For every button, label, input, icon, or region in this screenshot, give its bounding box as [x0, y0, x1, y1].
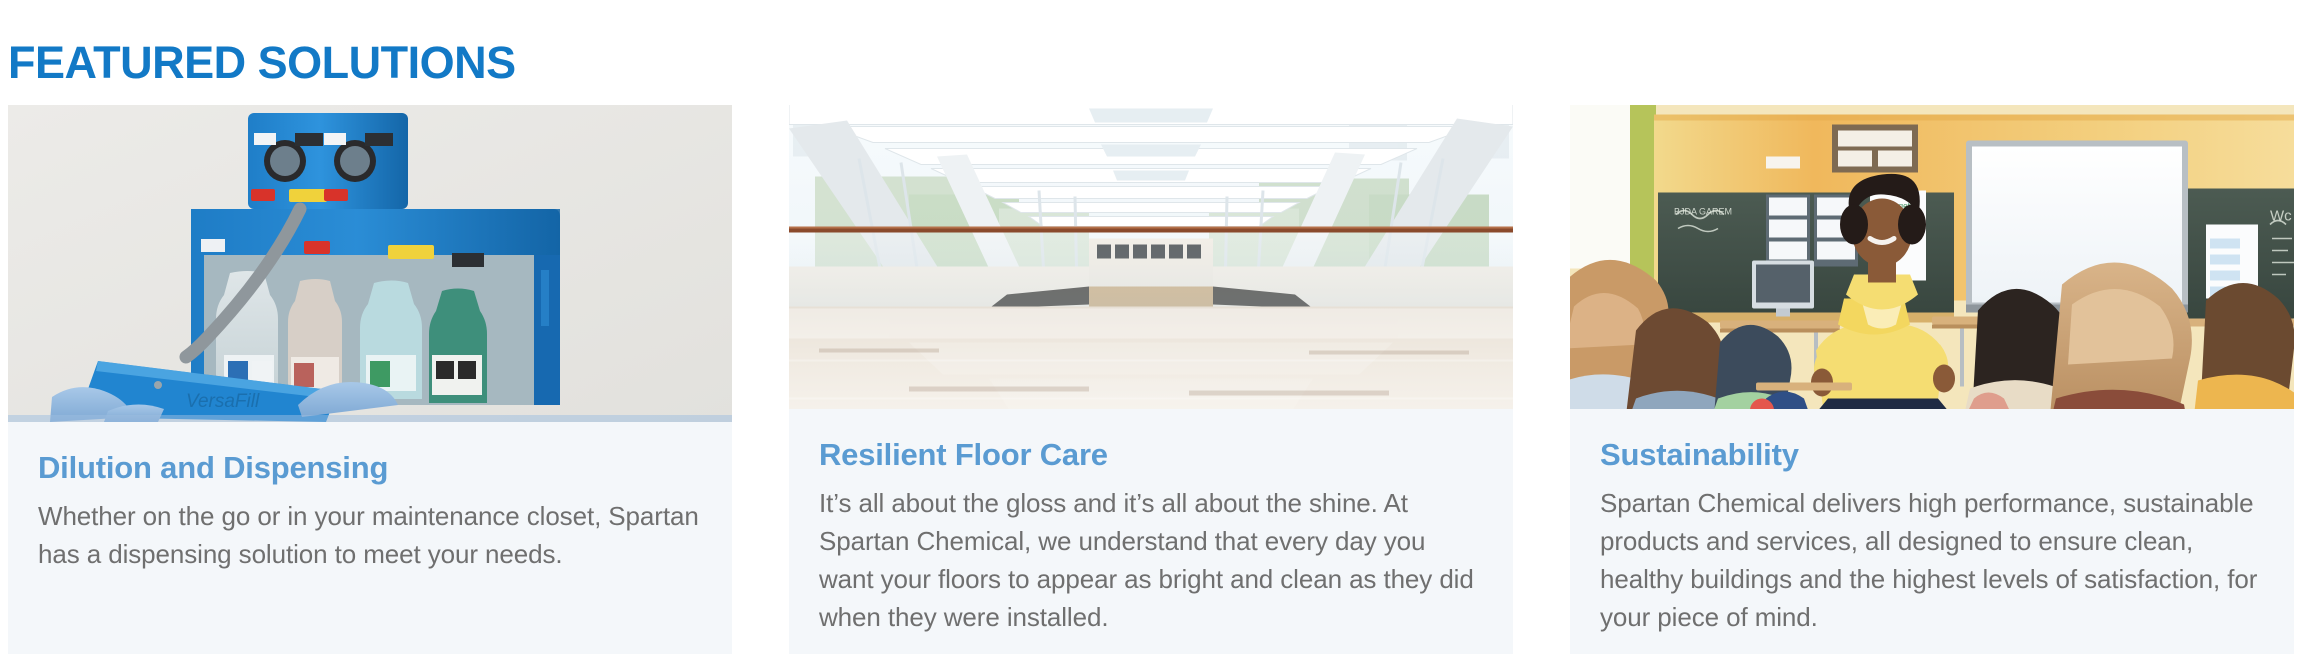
solution-card-body: Resilient Floor Care It’s all about the …	[789, 409, 1513, 654]
solution-card-title[interactable]: Resilient Floor Care	[819, 437, 1483, 473]
sustainability-classroom-photo[interactable]: BJDA GAREM Wc	[1570, 105, 2294, 409]
solution-card-title[interactable]: Dilution and Dispensing	[38, 450, 702, 486]
page-title: FEATURED SOLUTIONS	[8, 35, 516, 91]
svg-text:BJDA GAREM: BJDA GAREM	[1674, 207, 1732, 217]
solution-card-body: Dilution and Dispensing Whether on the g…	[8, 422, 732, 654]
featured-solutions-section: FEATURED SOLUTIONS	[0, 0, 2302, 654]
solution-card-description: It’s all about the gloss and it’s all ab…	[819, 484, 1483, 636]
solution-card[interactable]: Resilient Floor Care It’s all about the …	[789, 105, 1513, 654]
solution-card[interactable]: BJDA GAREM Wc	[1570, 105, 2294, 654]
resilient-floor-care-photo[interactable]	[789, 105, 1513, 409]
dilution-dispensing-machine-photo[interactable]: VersaFill	[8, 105, 732, 422]
solution-card[interactable]: VersaFill Dilution and Dispensing Whethe…	[8, 105, 732, 654]
solution-card-description: Whether on the go or in your maintenance…	[38, 497, 702, 573]
solution-card-body: Sustainability Spartan Chemical delivers…	[1570, 409, 2294, 654]
solution-card-title[interactable]: Sustainability	[1600, 437, 2264, 473]
svg-text:Wc: Wc	[2270, 208, 2292, 225]
svg-text:VersaFill: VersaFill	[186, 391, 260, 412]
solution-card-description: Spartan Chemical delivers high performan…	[1600, 484, 2264, 636]
solution-card-list: VersaFill Dilution and Dispensing Whethe…	[8, 105, 2294, 654]
